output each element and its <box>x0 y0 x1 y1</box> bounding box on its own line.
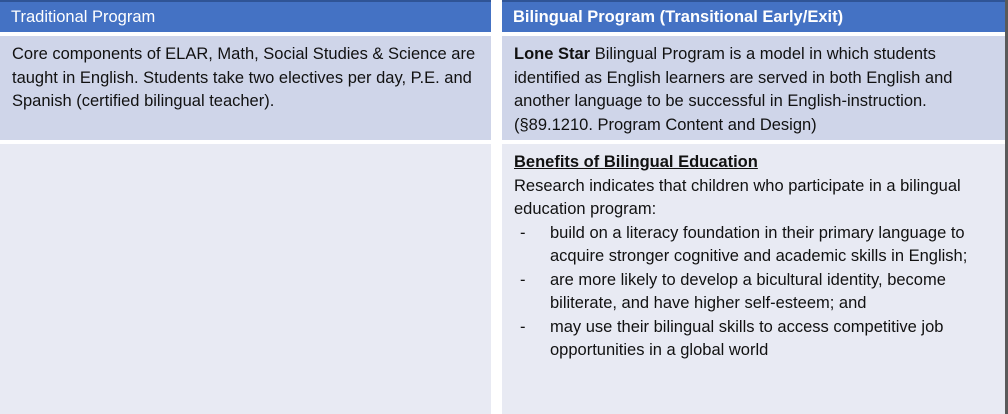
list-item-text: may use their bilingual skills to access… <box>550 318 943 360</box>
cell-divider <box>491 144 502 414</box>
cell-traditional-overview: Core components of ELAR, Math, Social St… <box>0 36 491 140</box>
table-row: Benefits of Bilingual Education Research… <box>0 144 1005 414</box>
cell-divider <box>491 36 502 140</box>
column-header-traditional-program: Traditional Program <box>0 0 491 32</box>
traditional-overview-text: Core components of ELAR, Math, Social St… <box>12 43 479 114</box>
lone-star-label: Lone Star <box>514 45 590 63</box>
list-item: -build on a literacy foundation in their… <box>514 222 993 269</box>
list-item-text: are more likely to develop a bicultural … <box>550 271 946 313</box>
table-row: Core components of ELAR, Math, Social St… <box>0 36 1005 140</box>
column-header-bilingual-program: Bilingual Program (Transitional Early/Ex… <box>502 0 1005 32</box>
column-divider <box>491 0 502 32</box>
list-item: -may use their bilingual skills to acces… <box>514 316 993 363</box>
program-comparison-table: Traditional Program Bilingual Program (T… <box>0 0 1008 414</box>
cell-bilingual-benefits: Benefits of Bilingual Education Research… <box>502 144 1005 414</box>
benefits-intro-text: Research indicates that children who par… <box>514 175 993 222</box>
bilingual-overview-paragraph: Lone Star Bilingual Program is a model i… <box>514 43 993 137</box>
dash-bullet-icon: - <box>520 222 526 246</box>
benefits-heading: Benefits of Bilingual Education <box>514 151 993 175</box>
dash-bullet-icon: - <box>520 316 526 340</box>
cell-traditional-empty <box>0 144 491 414</box>
benefits-list: -build on a literacy foundation in their… <box>514 222 993 363</box>
table-header-row: Traditional Program Bilingual Program (T… <box>0 0 1005 32</box>
cell-bilingual-overview: Lone Star Bilingual Program is a model i… <box>502 36 1005 140</box>
list-item: -are more likely to develop a bicultural… <box>514 269 993 316</box>
list-item-text: build on a literacy foundation in their … <box>550 224 967 266</box>
dash-bullet-icon: - <box>520 269 526 293</box>
